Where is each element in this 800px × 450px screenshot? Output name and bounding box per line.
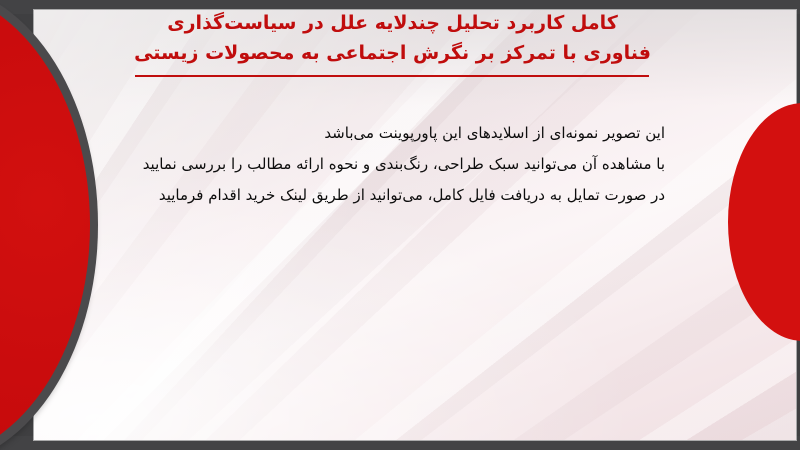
slide-title: کامل کاربرد تحلیل چندلایه علل در سیاست‌گ… xyxy=(120,8,665,68)
slide-body-line-3: در صورت تمایل به دریافت فایل کامل، می‌تو… xyxy=(120,180,665,211)
title-underline-rule xyxy=(135,75,649,77)
slide-body-text: این تصویر نمونه‌ای از اسلایدهای این پاور… xyxy=(120,118,665,211)
slide-title-line-1: کامل کاربرد تحلیل چندلایه علل در سیاست‌گ… xyxy=(120,8,665,38)
presentation-slide: کامل کاربرد تحلیل چندلایه علل در سیاست‌گ… xyxy=(0,0,800,450)
slide-body-line-2: با مشاهده آن می‌توانید سبک طراحی، رنگ‌بن… xyxy=(120,149,665,180)
slide-body-line-1: این تصویر نمونه‌ای از اسلایدهای این پاور… xyxy=(120,118,665,149)
slide-title-line-2: فناوری با تمرکز بر نگرش اجتماعی به محصول… xyxy=(120,38,665,68)
